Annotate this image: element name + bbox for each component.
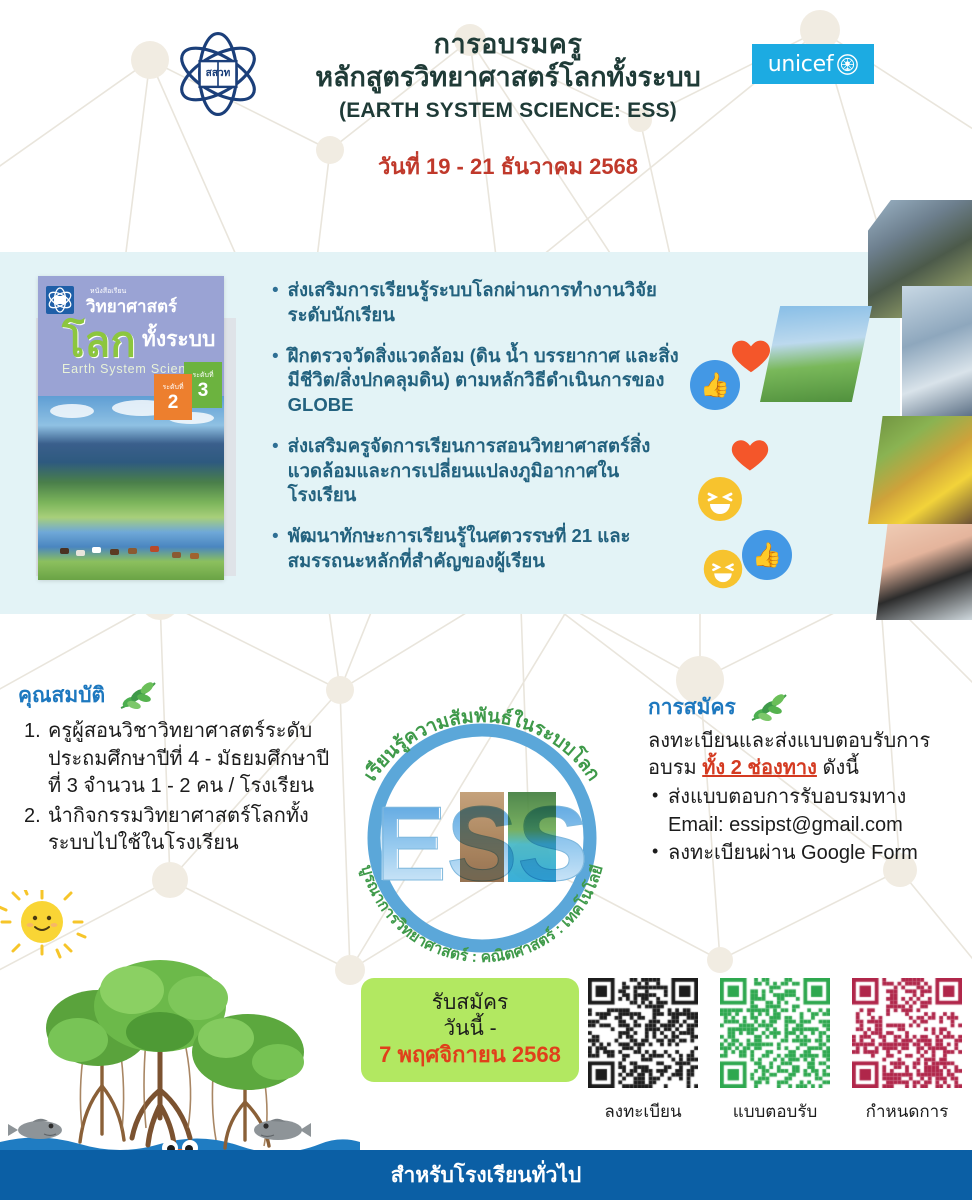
smiling-sun-icon: [0, 890, 85, 957]
ess-center-text: ESS: [376, 785, 588, 903]
objective-text: ส่งเสริมการเรียนรู้ระบบโลกผ่านการทำงานวิ…: [288, 278, 682, 328]
qr-reply-form[interactable]: แบบตอบรับ: [720, 978, 830, 1125]
qualifications-heading: คุณสมบัติ: [18, 679, 105, 712]
heart-icon: [728, 432, 772, 476]
qualifications-list: ครูผู้สอนวิชาวิทยาศาสตร์ระดับประถมศึกษาป…: [18, 718, 338, 858]
book-label-thang-rabob: ทั้งระบบ: [142, 323, 215, 356]
unicef-wordmark: unicef: [768, 52, 834, 77]
objective-text: พัฒนาทักษะการเรียนรู้ในศตวรรษที่ 21 และส…: [288, 524, 682, 574]
objective-text: ส่งเสริมครูจัดการเรียนการสอนวิทยาศาสตร์ส…: [288, 434, 682, 508]
training-title-line2: หลักสูตรวิทยาศาสตร์โลกทั้งระบบ: [268, 61, 748, 95]
registration-intro-after: ดังนี้: [817, 757, 859, 779]
registration-channel-item[interactable]: ส่งแบบตอบการรับอบรมทาง Email: essipst@gm…: [648, 784, 964, 838]
qualifications-section: คุณสมบัติ ครูผู้สอนวิชาวิทยาศาสตร์ระดับป…: [18, 678, 338, 860]
registration-channels-list: ส่งแบบตอบการรับอบรมทาง Email: essipst@gm…: [648, 784, 964, 867]
training-title-line1: การอบรมครู: [268, 28, 748, 61]
bullet-dot-icon: •: [272, 278, 279, 328]
qualification-item: นำกิจกรรมวิทยาศาสตร์โลกทั้งระบบไปใช้ในโร…: [18, 803, 338, 858]
objective-item: • ส่งเสริมการเรียนรู้ระบบโลกผ่านการทำงาน…: [272, 278, 682, 328]
leaf-branch-icon: [115, 678, 161, 712]
bullet-dot-icon: •: [272, 524, 279, 574]
bullet-dot-icon: •: [272, 434, 279, 508]
ipst-atom-logo: สสวท: [172, 28, 264, 120]
registration-heading-row: การสมัคร: [648, 690, 964, 724]
registration-channel-item[interactable]: ลงทะเบียนผ่าน Google Form: [648, 840, 964, 867]
leaf-branch-icon: [746, 690, 792, 724]
qr-register-image[interactable]: [588, 978, 698, 1088]
textbook-cover: หนังสือเรียน วิทยาศาสตร์ โลก ทั้งระบบ Ea…: [38, 276, 224, 580]
qr-code-group: ลงทะเบียน แบบตอบรับ กำหนดการ: [588, 978, 960, 1125]
activity-photo: [876, 524, 972, 620]
activity-photo: [760, 306, 872, 402]
thumbs-up-icon: 👍: [742, 530, 792, 580]
bullet-dot-icon: •: [272, 344, 279, 418]
activity-photo-collage: 👍 👍: [680, 190, 972, 620]
training-date: วันที่ 19 - 21 ธันวาคม 2568: [268, 149, 748, 184]
activity-photo: [868, 416, 972, 524]
badge2-number: 2: [168, 393, 179, 412]
footer-bar: สำหรับโรงเรียนทั่วไป: [0, 1150, 972, 1200]
registration-intro-highlight: ทั้ง 2 ช่องทาง: [702, 757, 817, 779]
objective-item: • ฝึกตรวจวัดสิ่งแวดล้อม (ดิน น้ำ บรรยากา…: [272, 344, 682, 418]
qualifications-heading-row: คุณสมบัติ: [18, 678, 338, 712]
poster-root: สสวท การอบรมครู หลักสูตรวิทยาศาสตร์โลกทั…: [0, 0, 972, 1200]
ipst-logo-text: สสวท: [206, 68, 231, 79]
heart-icon: [728, 332, 774, 378]
qr-register[interactable]: ลงทะเบียน: [588, 978, 698, 1125]
deadline-line2: วันนี้ -: [443, 1016, 496, 1042]
activity-photo: [902, 286, 972, 416]
ess-letters: ESS ESS ESS: [374, 785, 589, 903]
deadline-date: 7 พฤศจิกายน 2568: [379, 1041, 561, 1070]
registration-intro: ลงทะเบียนและส่งแบบตอบรับการอบรม ทั้ง 2 ช…: [648, 728, 964, 782]
ess-circular-logo: เรียนรู้ความสัมพันธ์ในระบบโลก บูรณาการวิ…: [332, 688, 632, 988]
training-title-english: (EARTH SYSTEM SCIENCE: ESS): [268, 99, 748, 123]
qualification-item: ครูผู้สอนวิชาวิทยาศาสตร์ระดับประถมศึกษาป…: [18, 718, 338, 801]
qr-schedule[interactable]: กำหนดการ: [852, 978, 962, 1125]
registration-heading: การสมัคร: [648, 691, 736, 724]
qr-reply-form-image[interactable]: [720, 978, 830, 1088]
laugh-icon: [702, 548, 744, 590]
application-deadline-box: รับสมัคร วันนี้ - 7 พฤศจิกายน 2568: [361, 978, 579, 1082]
unicef-logo: unicef: [752, 44, 874, 84]
objective-item: • พัฒนาทักษะการเรียนรู้ในศตวรรษที่ 21 แล…: [272, 524, 682, 574]
header-title-block: การอบรมครู หลักสูตรวิทยาศาสตร์โลกทั้งระบ…: [268, 28, 748, 184]
objectives-list: • ส่งเสริมการเรียนรู้ระบบโลกผ่านการทำงาน…: [272, 278, 682, 590]
qr-schedule-image[interactable]: [852, 978, 962, 1088]
qr-reply-form-label: แบบตอบรับ: [720, 1098, 830, 1125]
mangrove-foliage: [46, 960, 304, 1090]
registration-section: การสมัคร ลงทะเบียนและส่งแบบตอบรับการอบรม…: [648, 690, 964, 868]
footer-text: สำหรับโรงเรียนทั่วไป: [391, 1159, 582, 1192]
mudskipper-fish: [8, 1119, 311, 1140]
qr-register-label: ลงทะเบียน: [588, 1098, 698, 1125]
mangrove-tree: [46, 960, 304, 1148]
badge3-number: 3: [198, 381, 209, 400]
laugh-icon: [696, 475, 744, 523]
book-cover-landscape-photo: [38, 396, 224, 580]
un-emblem-icon: [837, 54, 858, 75]
objective-item: • ส่งเสริมครูจัดการเรียนการสอนวิทยาศาสตร…: [272, 434, 682, 508]
objective-text: ฝึกตรวจวัดสิ่งแวดล้อม (ดิน น้ำ บรรยากาศ …: [288, 344, 682, 418]
qr-schedule-label: กำหนดการ: [852, 1098, 962, 1125]
book-badge-level2: ระดับที่ 2: [154, 374, 192, 420]
deadline-line1: รับสมัคร: [432, 990, 509, 1016]
